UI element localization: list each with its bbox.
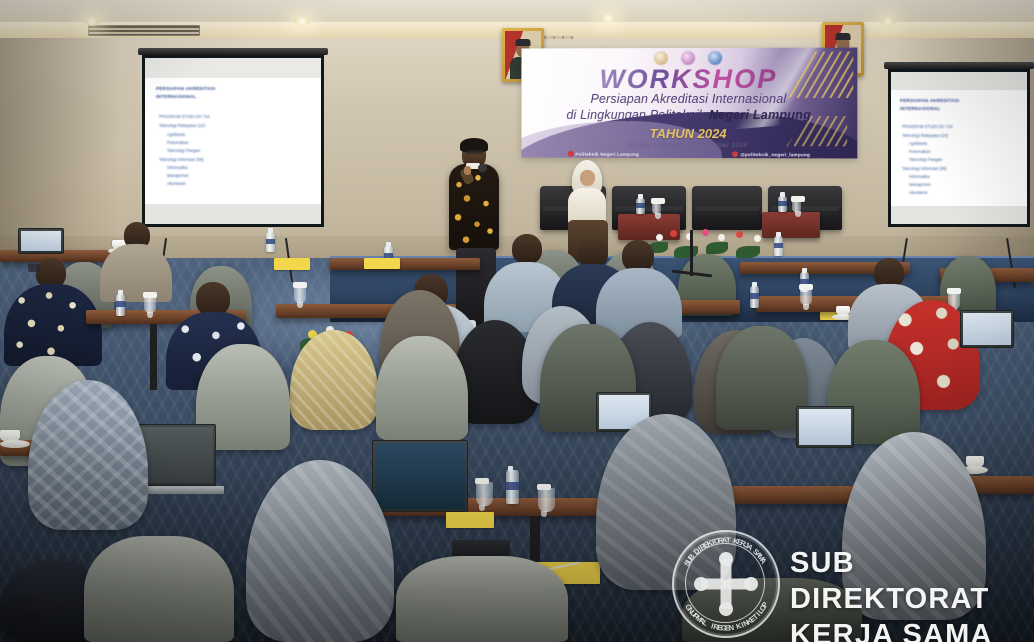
slide-row: Agribisnis	[167, 132, 185, 137]
saucer	[0, 440, 30, 448]
screen-surface: PERSIAPAN AKREDITASI INTERNASIONAL PROGR…	[145, 58, 321, 224]
water-glass	[294, 286, 306, 303]
yellow-notepad	[364, 258, 400, 269]
water-bottle	[506, 470, 519, 504]
chair	[396, 556, 568, 642]
water-bottle	[116, 294, 125, 316]
screen-frame: PERSIAPAN AKREDITASI INTERNASIONAL PROGR…	[888, 69, 1030, 227]
speaker-stand	[690, 230, 693, 276]
slide-row: Teknologi Informasi (06)	[159, 157, 204, 162]
kemendikbud-logo-icon	[708, 51, 722, 65]
slide-row: Manajemen	[909, 182, 931, 187]
ceiling-downlight	[600, 14, 616, 23]
banner-footer: Politeknik Negeri Lampung @politeknik_ne…	[521, 151, 857, 158]
speaker-batik-shirt	[449, 164, 499, 250]
banner-footer-right-text: @politeknik_negeri_lampung	[740, 152, 810, 157]
laptop	[18, 228, 64, 254]
water-glass	[538, 488, 555, 512]
ac-vent-icon	[88, 25, 200, 36]
slide-row: Peternakan	[909, 149, 930, 154]
banquet-table	[330, 258, 480, 270]
slide-row: Informatika	[167, 165, 188, 170]
slide-heading-1: PERSIAPAN AKREDITASI	[900, 98, 959, 103]
banner-date: Bandar Lampung, 12 Desember 2024	[521, 142, 857, 150]
water-glass	[792, 200, 801, 212]
institution-logo-icon	[654, 51, 668, 65]
ceiling-downlight	[294, 17, 310, 26]
chair	[682, 578, 862, 642]
projection-screen-right: PERSIAPAN AKREDITASI INTERNASIONAL PROGR…	[884, 62, 1034, 234]
torso	[100, 244, 172, 302]
slide-row: Teknologi Pangan	[909, 157, 942, 162]
screen-roller-bar	[138, 48, 328, 55]
banner-subtitle-line-2: di Lingkungan Politeknik Negeri Lampung	[521, 108, 857, 122]
chair	[84, 536, 234, 642]
slide-row: Teknologi Rekayasa (10)	[902, 133, 948, 138]
slide-row: Teknologi Rekayasa (10)	[159, 123, 205, 128]
banner-footer-left-text: Politeknik Negeri Lampung	[575, 151, 639, 156]
slide-row: Manajemen	[167, 173, 189, 178]
batik-shirt	[4, 284, 102, 366]
kampus-merdeka-logo-icon	[681, 51, 695, 65]
head	[512, 234, 542, 264]
moderator-blazer	[568, 188, 606, 224]
slide-row: PROGRAM STUDI D3 / D4	[159, 114, 210, 119]
slide-row: PROGRAM STUDI D3 / D4	[902, 124, 953, 129]
yellow-notepad	[274, 258, 310, 270]
slide-row: Agribisnis	[909, 141, 927, 146]
social-badge-icon	[732, 151, 738, 157]
slide-row: Peternakan	[167, 140, 188, 145]
banner-footer-left: Politeknik Negeri Lampung	[567, 151, 639, 157]
yellow-notepad	[446, 512, 494, 528]
conference-photo: WORKSHOP Persiapan Akreditasi Internasio…	[0, 0, 1034, 642]
water-glass	[800, 288, 812, 305]
glasses-icon	[28, 264, 40, 272]
slide-row: Akuntansi	[909, 190, 927, 195]
chair	[716, 326, 808, 430]
ceiling-downlight	[880, 17, 896, 26]
chair	[376, 336, 468, 440]
slide-heading-2: INTERNASIONAL	[156, 94, 196, 99]
projection-screen-left: PERSIAPAN AKREDITASI INTERNASIONAL PROGR…	[138, 48, 328, 234]
banner-logo-row	[654, 51, 722, 65]
banner-title: WORKSHOP	[521, 64, 857, 95]
screen-surface: PERSIAPAN AKREDITASI INTERNASIONAL PROGR…	[891, 72, 1027, 224]
banner-line2-b: Negeri Lampung	[709, 108, 811, 122]
laptop	[796, 406, 854, 448]
water-bottle	[750, 286, 759, 308]
speaker-hand	[464, 166, 471, 175]
social-badge-icon	[567, 151, 573, 157]
banner-line2-a: di Lingkungan Politeknik	[566, 108, 708, 122]
stage-sofa	[692, 186, 762, 230]
water-glass	[144, 296, 156, 313]
water-bottle	[266, 232, 275, 252]
water-bottle	[774, 236, 783, 256]
water-bottle	[636, 198, 645, 214]
slide-row: Teknologi Informasi (06)	[902, 166, 947, 171]
screen-frame: PERSIAPAN AKREDITASI INTERNASIONAL PROGR…	[142, 55, 324, 227]
banner-footer-right: @politeknik_negeri_lampung	[732, 151, 810, 157]
water-bottle	[778, 196, 787, 212]
ceiling-downlight	[84, 17, 100, 26]
moderator-face	[580, 170, 595, 186]
slide-heading-1: PERSIAPAN AKREDITASI	[156, 86, 215, 91]
banner-subtitle-line-1: Persiapan Akreditasi Internasional	[521, 92, 857, 106]
laptop	[372, 440, 468, 512]
laptop	[960, 310, 1014, 348]
slide-row: Akuntansi	[167, 181, 185, 186]
slide-row: Teknologi Pangan	[167, 148, 200, 153]
microphone-head-icon	[478, 164, 487, 172]
screen-roller-bar	[884, 62, 1034, 69]
slide-heading-2: INTERNASIONAL	[900, 106, 940, 111]
water-glass	[652, 202, 661, 214]
table-leg	[150, 324, 157, 390]
event-backdrop-banner: WORKSHOP Persiapan Akreditasi Internasio…	[521, 48, 857, 159]
head	[196, 282, 230, 316]
water-glass	[476, 482, 493, 506]
banner-year: TAHUN 2024	[521, 126, 857, 142]
speaker-glasses-icon	[466, 150, 483, 154]
slide-row: Informatika	[909, 174, 930, 179]
